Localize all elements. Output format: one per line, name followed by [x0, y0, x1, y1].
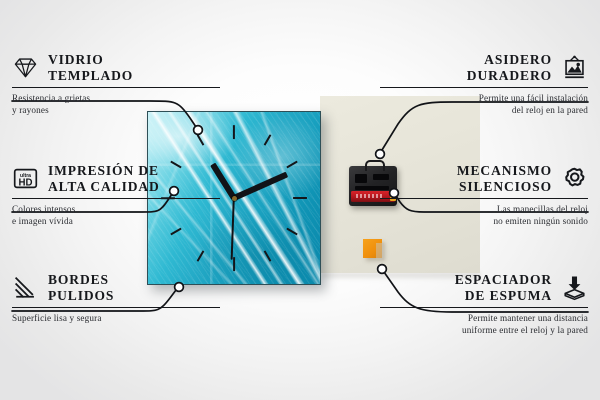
desc-line-1: Permite una fácil instalación [380, 93, 588, 105]
callout-rule [380, 307, 588, 308]
callout-espaciador-de-espuma[interactable]: ESPACIADOR DE ESPUMA Permite mantener un… [380, 272, 588, 336]
callout-title: ASIDERO DURADERO [380, 52, 552, 83]
title-line-2: PULIDOS [48, 288, 220, 304]
title-line-1: BORDES [48, 272, 220, 288]
title-line-1: IMPRESIÓN DE [48, 163, 220, 179]
callout-vidrio-templado[interactable]: VIDRIO TEMPLADO Resistencia a grietas y … [12, 52, 220, 116]
diamond-icon [12, 54, 39, 81]
callout-title: VIDRIO TEMPLADO [48, 52, 220, 83]
ultra-hd-big-label: HD [19, 177, 33, 188]
title-line-1: ASIDERO [380, 52, 552, 68]
desc-line-1: Las manecillas del reloj [380, 204, 588, 216]
mechanism-slot-left [355, 174, 367, 183]
callout-header: MECANISMO SILENCIOSO [380, 163, 588, 194]
clock-tick [233, 125, 235, 139]
ultra-hd-icon: ultra HD [12, 165, 39, 192]
callout-description: Las manecillas del reloj no emiten ningú… [380, 204, 588, 227]
callout-rule [380, 198, 588, 199]
hanging-frame-icon [561, 54, 588, 81]
callout-description: Permite una fácil instalación del reloj … [380, 93, 588, 116]
callout-bordes-pulidos[interactable]: BORDES PULIDOS Superficie lisa y segura [12, 272, 220, 325]
title-line-1: MECANISMO [380, 163, 552, 179]
callout-description: Colores intensos e imagen vívida [12, 204, 220, 227]
title-line-2: ALTA CALIDAD [48, 179, 220, 195]
title-line-2: SILENCIOSO [380, 179, 552, 195]
title-line-2: TEMPLADO [48, 68, 220, 84]
callout-header: ultra HD IMPRESIÓN DE ALTA CALIDAD [12, 163, 220, 194]
callout-rule [12, 307, 220, 308]
desc-line-1: Superficie lisa y segura [12, 313, 220, 325]
title-line-2: DE ESPUMA [380, 288, 552, 304]
desc-line-1: Resistencia a grietas [12, 93, 220, 105]
callout-impresion-alta-calidad[interactable]: ultra HD IMPRESIÓN DE ALTA CALIDAD Color… [12, 163, 220, 227]
callout-title: IMPRESIÓN DE ALTA CALIDAD [48, 163, 220, 194]
desc-line-1: Permite mantener una distancia [380, 313, 588, 325]
polished-edges-icon [12, 274, 39, 301]
title-line-1: ESPACIADOR [380, 272, 552, 288]
clock-center-hub [232, 196, 237, 201]
callout-header: BORDES PULIDOS [12, 272, 220, 303]
callout-asidero-duradero[interactable]: ASIDERO DURADERO Permite una fácil insta… [380, 52, 588, 116]
infographic-canvas: VIDRIO TEMPLADO Resistencia a grietas y … [0, 0, 600, 400]
desc-line-2: no emiten ningún sonido [380, 216, 588, 228]
callout-description: Superficie lisa y segura [12, 313, 220, 325]
title-line-1: VIDRIO [48, 52, 220, 68]
callout-header: ASIDERO DURADERO [380, 52, 588, 83]
desc-line-2: y rayones [12, 105, 220, 117]
desc-line-2: e imagen vívida [12, 216, 220, 228]
battery-label [356, 194, 382, 198]
callout-title: BORDES PULIDOS [48, 272, 220, 303]
callout-rule [12, 198, 220, 199]
desc-line-2: uniforme entre el reloj y la pared [380, 325, 588, 337]
callout-rule [12, 87, 220, 88]
foam-spacer-part [363, 239, 382, 258]
callout-title: MECANISMO SILENCIOSO [380, 163, 552, 194]
callout-header: ESPACIADOR DE ESPUMA [380, 272, 588, 303]
callout-title: ESPACIADOR DE ESPUMA [380, 272, 552, 303]
callout-rule [380, 87, 588, 88]
desc-line-1: Colores intensos [12, 204, 220, 216]
callout-header: VIDRIO TEMPLADO [12, 52, 220, 83]
press-down-pad-icon [561, 274, 588, 301]
title-line-2: DURADERO [380, 68, 552, 84]
callout-description: Permite mantener una distancia uniforme … [380, 313, 588, 336]
callout-description: Resistencia a grietas y rayones [12, 93, 220, 116]
clock-tick [233, 257, 235, 271]
desc-line-2: del reloj en la pared [380, 105, 588, 117]
clock-tick [293, 197, 307, 199]
gear-icon [561, 165, 588, 192]
callout-mecanismo-silencioso[interactable]: MECANISMO SILENCIOSO Las manecillas del … [380, 163, 588, 227]
